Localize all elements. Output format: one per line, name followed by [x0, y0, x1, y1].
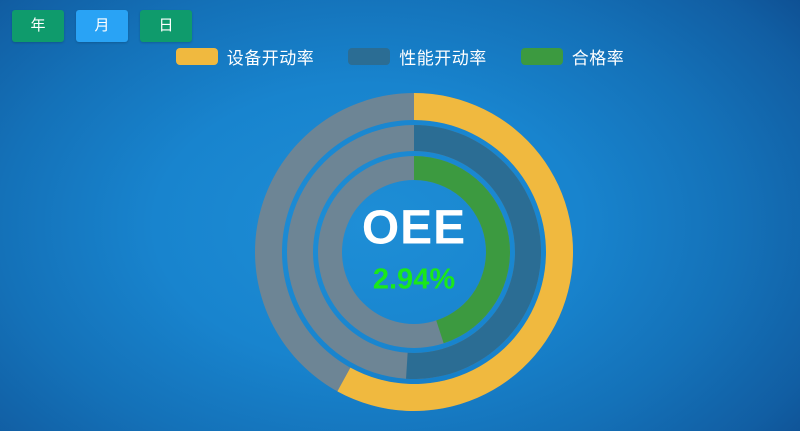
- legend-item-equipment-availability[interactable]: 设备开动率: [176, 44, 315, 69]
- legend-item-performance-rate[interactable]: 性能开动率: [348, 44, 487, 69]
- legend-swatch-yellow: [176, 48, 218, 65]
- legend-label-quality-rate: 合格率: [572, 44, 625, 69]
- legend-swatch-green: [521, 48, 563, 65]
- donut-rings: [255, 93, 573, 411]
- legend-label-equipment-availability: 设备开动率: [227, 44, 315, 69]
- legend-swatch-slate: [348, 48, 390, 65]
- legend-item-quality-rate[interactable]: 合格率: [521, 44, 625, 69]
- period-button-month[interactable]: 月: [76, 10, 128, 42]
- period-button-day[interactable]: 日: [140, 10, 192, 42]
- period-button-year[interactable]: 年: [12, 10, 64, 42]
- oee-dashboard: 年 月 日 设备开动率 性能开动率 合格率 OEE 2.94%: [0, 0, 800, 431]
- legend-label-performance-rate: 性能开动率: [399, 44, 487, 69]
- period-selector: 年 月 日: [12, 10, 192, 42]
- chart-legend: 设备开动率 性能开动率 合格率: [0, 44, 800, 69]
